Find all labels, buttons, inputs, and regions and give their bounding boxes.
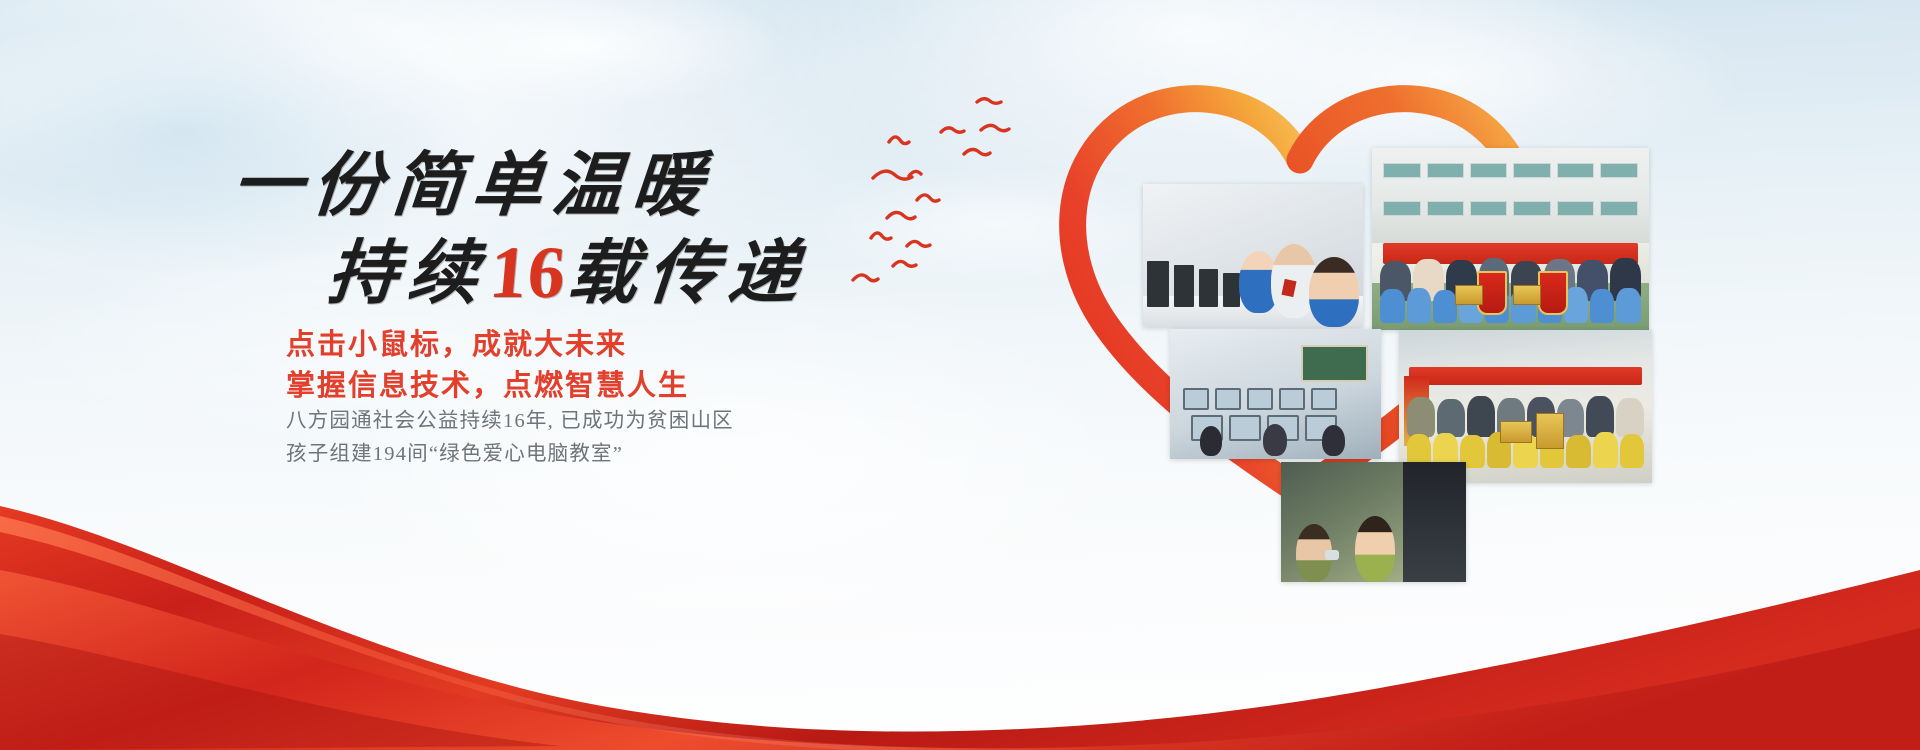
student bbox=[1380, 289, 1404, 323]
computer-monitor bbox=[1183, 388, 1209, 410]
window bbox=[1600, 201, 1637, 216]
student bbox=[1590, 289, 1614, 323]
subtitle-line-2: 掌握信息技术，点燃智慧人生 bbox=[286, 366, 689, 407]
window bbox=[1557, 201, 1594, 216]
school-building bbox=[1372, 148, 1649, 243]
student bbox=[1309, 257, 1359, 327]
headline-years-number: 16 bbox=[484, 232, 571, 314]
award-plaque bbox=[1513, 285, 1541, 305]
monitor bbox=[1147, 261, 1169, 307]
award-pennant bbox=[1538, 271, 1568, 315]
student bbox=[1433, 290, 1457, 323]
charity-banner: 一份简单温暖 持续16载传递 点击小鼠标，成就大未来 掌握信息技术，点燃智慧人生… bbox=[0, 0, 1920, 750]
monitor bbox=[1223, 273, 1240, 307]
headline-line-1: 一份简单温暖 bbox=[229, 152, 795, 222]
window-row bbox=[1383, 201, 1638, 216]
window bbox=[1383, 201, 1420, 216]
flying-birds-icon bbox=[845, 88, 1025, 308]
subtitle: 点击小鼠标，成就大未来 掌握信息技术，点燃智慧人生 bbox=[286, 325, 689, 407]
headline-line-2: 持续16载传递 bbox=[325, 236, 795, 310]
photo-computer-lab-students bbox=[1143, 184, 1363, 327]
computer-monitor bbox=[1279, 388, 1305, 410]
monitor bbox=[1199, 269, 1218, 307]
computer-monitor bbox=[1311, 388, 1337, 410]
subtitle-line-1: 点击小鼠标，成就大未来 bbox=[286, 325, 689, 366]
headline-line2-prefix: 持续 bbox=[325, 236, 492, 313]
window bbox=[1600, 163, 1637, 178]
computer-monitor bbox=[1215, 388, 1241, 410]
chalkboard bbox=[1301, 345, 1368, 383]
student bbox=[1407, 288, 1431, 323]
window bbox=[1513, 163, 1550, 178]
window bbox=[1557, 163, 1594, 178]
window bbox=[1427, 163, 1464, 178]
photo-school-donation-ceremony bbox=[1372, 148, 1649, 330]
window bbox=[1513, 201, 1550, 216]
award-plaque bbox=[1455, 285, 1483, 305]
people-row-students bbox=[1380, 285, 1640, 323]
window bbox=[1470, 163, 1507, 178]
monitor bbox=[1174, 265, 1194, 307]
red-silk-ribbon bbox=[0, 420, 1920, 750]
window-row bbox=[1383, 163, 1638, 178]
computer-monitor bbox=[1247, 388, 1273, 410]
student bbox=[1616, 288, 1640, 323]
computer-row bbox=[1183, 388, 1337, 410]
window bbox=[1427, 201, 1464, 216]
window bbox=[1470, 201, 1507, 216]
headline: 一份简单温暖 持续16载传递 bbox=[232, 152, 792, 310]
monitor-row bbox=[1147, 261, 1240, 307]
window bbox=[1383, 163, 1420, 178]
ceremony-banner bbox=[1409, 367, 1642, 385]
headline-line2-suffix: 载传递 bbox=[565, 236, 812, 313]
